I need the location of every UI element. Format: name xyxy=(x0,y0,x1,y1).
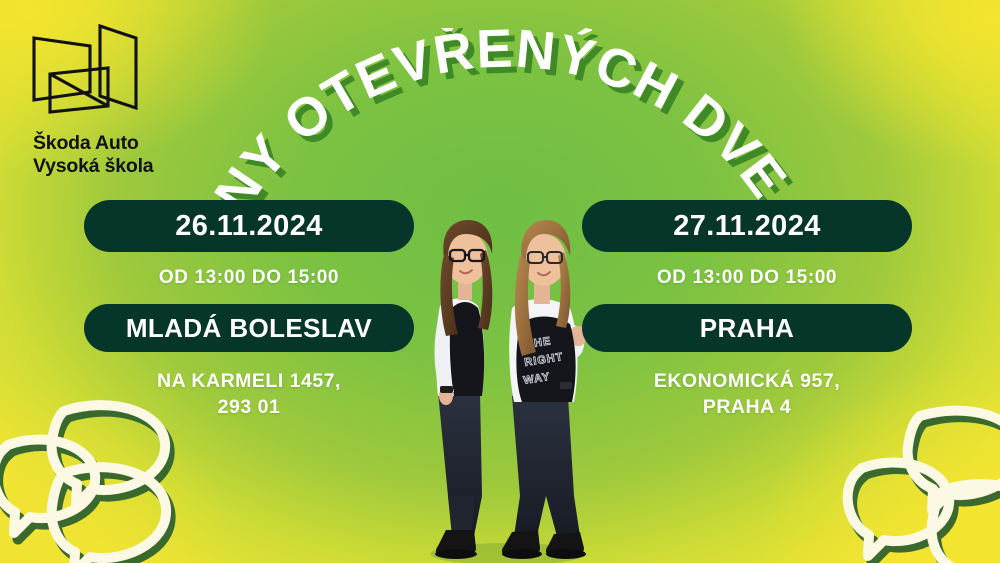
brand-layer: Škoda Auto Vysoká škola xyxy=(0,0,1000,563)
brand-logo-text: Škoda Auto Vysoká škola xyxy=(33,132,215,177)
brand-line-1: Škoda Auto xyxy=(33,132,215,155)
skoda-auto-university-mark-icon xyxy=(30,22,142,122)
brand-line-2: Vysoká škola xyxy=(33,155,215,178)
brand-logo: Škoda Auto Vysoká škola xyxy=(30,22,215,177)
poster-canvas: THE RIGHT WAY xyxy=(0,0,1000,563)
